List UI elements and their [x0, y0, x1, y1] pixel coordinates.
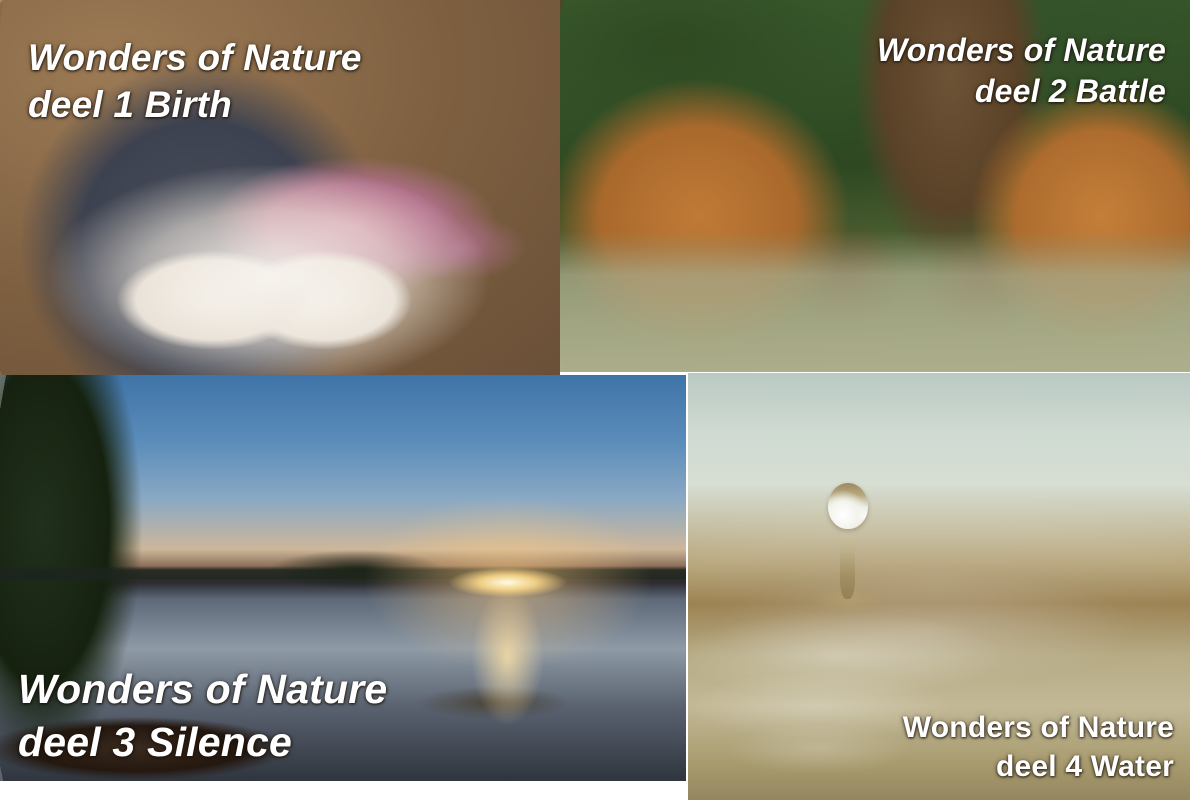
panel-water[interactable]: Wonders of Nature deel 4 Water	[688, 373, 1190, 800]
water-caption: Wonders of Nature deel 4 Water	[903, 709, 1174, 786]
silence-series-title: Wonders of Nature	[18, 663, 387, 715]
water-droplet-icon	[828, 483, 868, 529]
panel-birth[interactable]: Wonders of Nature deel 1 Birth	[0, 0, 560, 375]
water-part-label: deel 4 Water	[903, 748, 1174, 786]
birth-caption: Wonders of Nature deel 1 Birth	[28, 34, 362, 129]
water-series-title: Wonders of Nature	[903, 709, 1174, 747]
battle-part-label: deel 2 Battle	[877, 71, 1166, 112]
battle-series-title: Wonders of Nature	[877, 30, 1166, 71]
panel-battle[interactable]: Wonders of Nature deel 2 Battle	[560, 0, 1190, 372]
water-column-icon	[840, 523, 855, 599]
wonders-of-nature-collage: Wonders of Nature deel 1 Birth Wonders o…	[0, 0, 1190, 800]
silence-bottom-border	[0, 781, 686, 790]
panel-silence[interactable]: Wonders of Nature deel 3 Silence	[0, 375, 686, 790]
battle-caption: Wonders of Nature deel 2 Battle	[877, 30, 1166, 112]
silence-part-label: deel 3 Silence	[18, 716, 387, 768]
birth-part-label: deel 1 Birth	[28, 81, 362, 128]
silence-caption: Wonders of Nature deel 3 Silence	[18, 663, 387, 768]
birth-series-title: Wonders of Nature	[28, 34, 362, 81]
